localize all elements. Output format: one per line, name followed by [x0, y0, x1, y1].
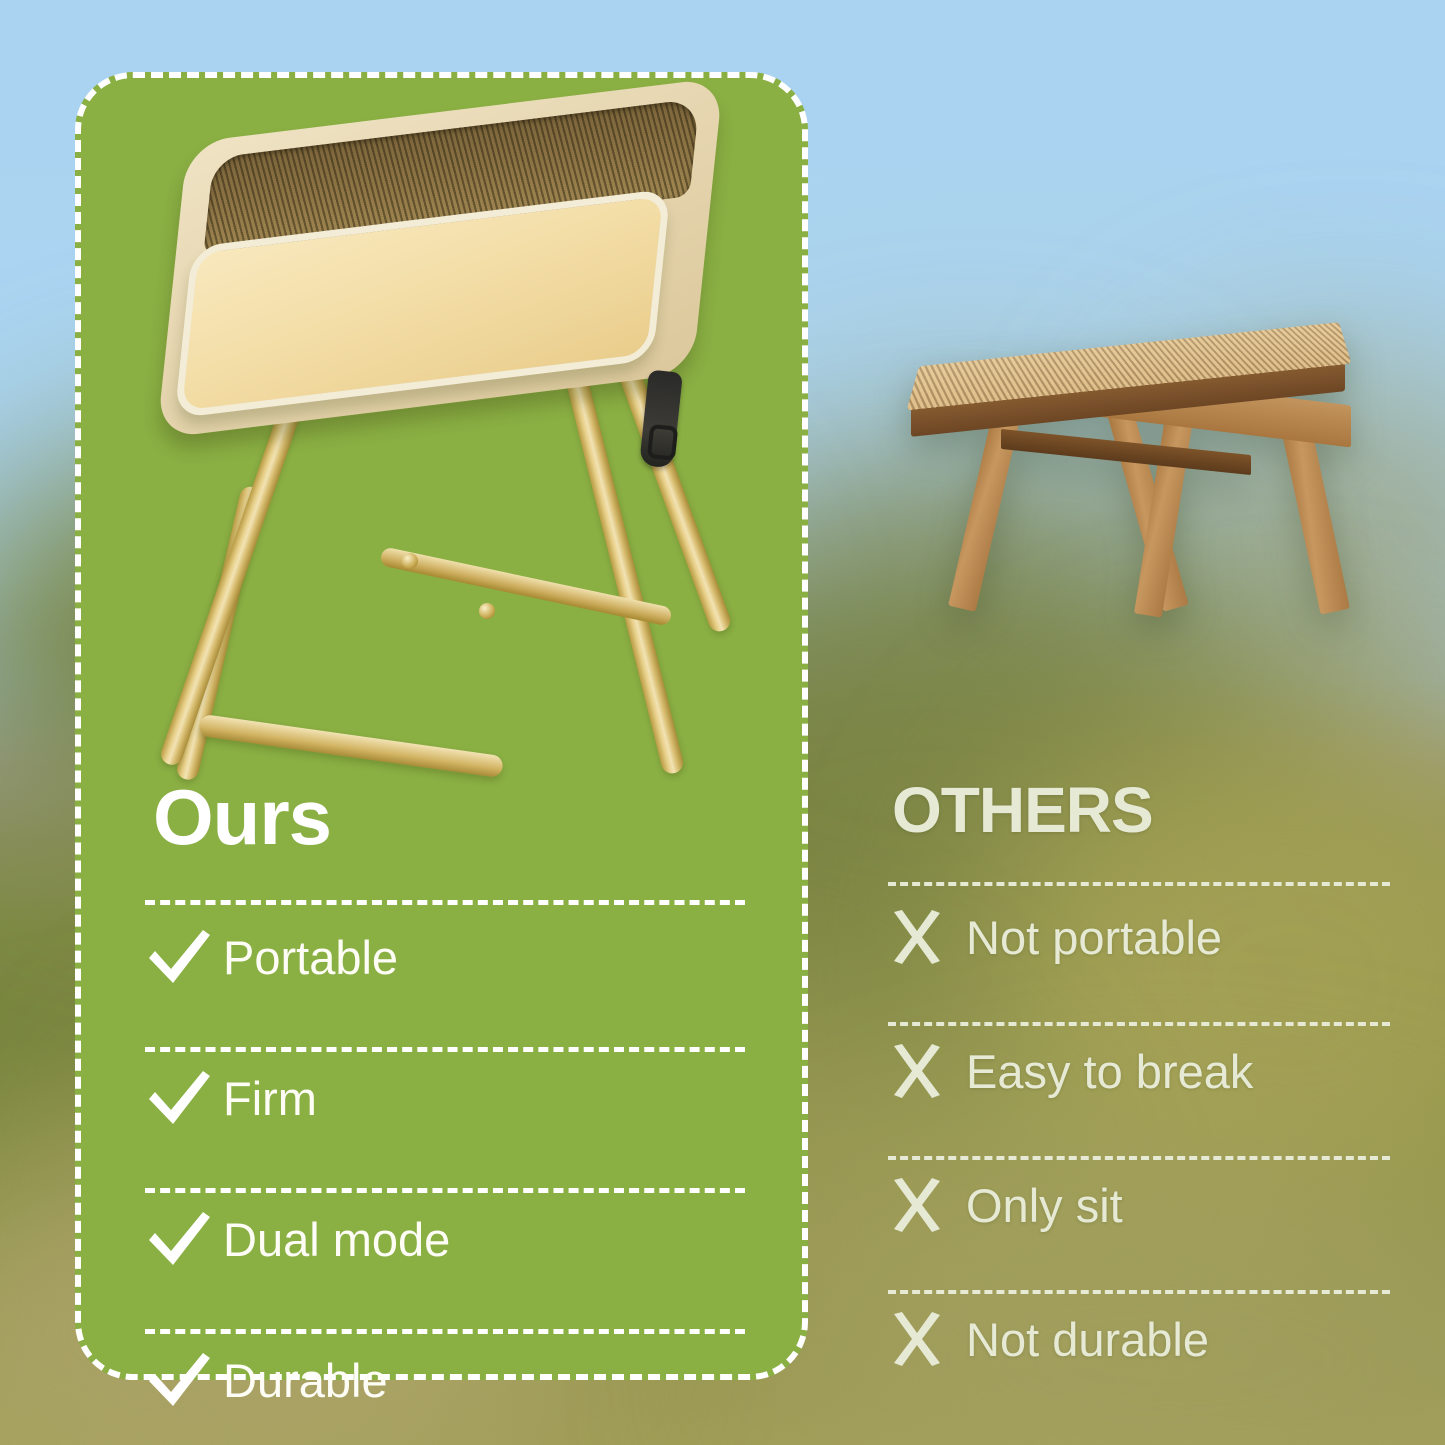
check-icon — [145, 926, 223, 988]
ours-column: Ours Portable Firm — [145, 778, 745, 1426]
ours-product-image — [110, 95, 750, 775]
stool-foot-rail — [198, 714, 504, 778]
others-title: OTHERS — [888, 778, 1390, 842]
ours-feature-row: Durable — [145, 1334, 745, 1426]
stool-hinge — [402, 553, 418, 569]
ours-feature-label: Dual mode — [223, 1216, 450, 1263]
check-icon — [145, 1208, 223, 1270]
cross-icon — [888, 1043, 966, 1099]
ours-feature-row: Portable — [145, 911, 745, 1003]
stool-hinge — [479, 603, 495, 619]
ours-feature-row: Firm — [145, 1052, 745, 1144]
cross-icon — [888, 1177, 966, 1233]
others-product-image — [905, 320, 1355, 650]
cross-icon — [888, 909, 966, 965]
cross-icon — [888, 1311, 966, 1367]
comparison-infographic: Ours Portable Firm — [0, 0, 1445, 1445]
others-feature-row: Only sit — [888, 1160, 1390, 1250]
check-icon — [145, 1349, 223, 1411]
ours-title: Ours — [145, 778, 745, 856]
others-feature-label: Not durable — [966, 1316, 1209, 1363]
others-feature-row: Not durable — [888, 1294, 1390, 1384]
ours-feature-label: Firm — [223, 1075, 317, 1122]
ours-feature-row: Dual mode — [145, 1193, 745, 1285]
row-separator — [145, 900, 745, 905]
others-feature-row: Easy to break — [888, 1026, 1390, 1116]
row-separator — [888, 882, 1390, 886]
ours-feature-label: Portable — [223, 934, 398, 981]
others-feature-row: Not portable — [888, 892, 1390, 982]
check-icon — [145, 1067, 223, 1129]
others-feature-label: Easy to break — [966, 1048, 1253, 1095]
others-feature-label: Not portable — [966, 914, 1222, 961]
others-column: OTHERS Not portable Easy to break — [888, 778, 1390, 1384]
others-feature-label: Only sit — [966, 1182, 1123, 1229]
stool-carry-strap — [639, 369, 683, 468]
ours-feature-label: Durable — [223, 1357, 388, 1404]
